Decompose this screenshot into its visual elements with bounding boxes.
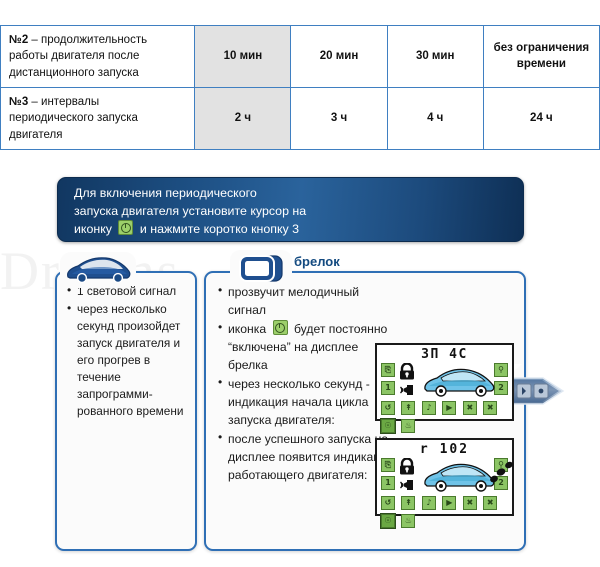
settings-table-wrapper: №2 – продолжительность работы двигателя … bbox=[0, 25, 600, 150]
list-item: через несколько секунд произойдет запуск… bbox=[77, 301, 187, 420]
lcd-car-illustration bbox=[421, 460, 499, 494]
arrow-icon: ▶ bbox=[442, 496, 456, 510]
lcd-start-cycle: 3П 4С ⎘ 1 ⚲ 2 ↺ ↟ ♪ bbox=[375, 343, 514, 421]
thermometer-icon: ♨ bbox=[401, 514, 415, 528]
table-row-number: №2 bbox=[9, 34, 28, 46]
instruction-line-3-before: иконку bbox=[74, 222, 112, 236]
settings-table: №2 – продолжительность работы двигателя … bbox=[0, 25, 600, 150]
instruction-line-2: запуска двигателя установите курсор на bbox=[74, 203, 414, 221]
instruction-line-3: иконку и нажмите коротко кнопку 3 bbox=[74, 220, 414, 239]
table-row: №3 – интервалы периодического запуска дв… bbox=[1, 87, 600, 149]
channel-1-icon: 1 bbox=[381, 381, 395, 395]
table-row-description: продолжительность работы двигателя после… bbox=[9, 34, 147, 79]
fob-card-title: брелок bbox=[294, 254, 340, 269]
fob-bullet2-before: иконка bbox=[228, 322, 266, 336]
fan-icon: ✖ bbox=[463, 401, 477, 415]
lcd-bottom-icon-row: ↺ ↟ ♪ ▶ ✖ ✖ ☉ ♨ bbox=[381, 496, 512, 532]
lcd-readout: 3П 4С bbox=[377, 347, 512, 362]
exhaust-smoke-icon bbox=[489, 460, 515, 486]
table-cell-r1c1: 10 мин bbox=[195, 26, 291, 88]
table-row-description: интервалы периодического запуска двигате… bbox=[9, 96, 138, 141]
table-row-dash: – bbox=[31, 34, 37, 46]
table-row-label: №2 – продолжительность работы двигателя … bbox=[1, 26, 195, 88]
trunk-icon: ⎘ bbox=[381, 458, 395, 472]
loop-icon: ↺ bbox=[381, 496, 395, 510]
lcd-readout: r 102 bbox=[377, 442, 512, 457]
instruction-banner-text: Для включения периодического запуска дви… bbox=[74, 185, 414, 239]
valet-icon: ↟ bbox=[401, 401, 415, 415]
key-fob-icon bbox=[232, 252, 290, 286]
instruction-line-3-after: и нажмите коротко кнопку 3 bbox=[140, 222, 299, 236]
lock-icon bbox=[399, 363, 415, 380]
table-row-number: №3 bbox=[9, 96, 28, 108]
periodic-start-icon: ☉ bbox=[381, 514, 395, 528]
lock-icon bbox=[399, 458, 415, 475]
car-icon bbox=[62, 254, 134, 286]
lcd-car-illustration bbox=[421, 365, 499, 399]
siren-icon bbox=[399, 383, 417, 395]
table-row-dash: – bbox=[31, 96, 37, 108]
arrow-icon: ▶ bbox=[442, 401, 456, 415]
note-icon: ♪ bbox=[422, 401, 436, 415]
car-response-card: 1 световой сигнал через несколько секунд… bbox=[55, 271, 197, 551]
loop-icon: ↺ bbox=[381, 401, 395, 415]
table-cell-r1c3: 30 мин bbox=[387, 26, 483, 88]
snow-icon: ✖ bbox=[483, 496, 497, 510]
snow-icon: ✖ bbox=[483, 401, 497, 415]
periodic-start-green-icon bbox=[118, 220, 133, 235]
channel-1-icon: 1 bbox=[381, 476, 395, 490]
table-cell-r2c2: 3 ч bbox=[291, 87, 387, 149]
instruction-line-1: Для включения периодического bbox=[74, 185, 414, 203]
lcd-bottom-icon-row: ↺ ↟ ♪ ▶ ✖ ✖ ☉ ♨ bbox=[381, 401, 512, 437]
table-cell-r2c1: 2 ч bbox=[195, 87, 291, 149]
table-cell-r1c4: без ограничения времени bbox=[483, 26, 599, 88]
siren-icon bbox=[399, 478, 417, 490]
trunk-icon: ⎘ bbox=[381, 363, 395, 377]
car-response-list: 1 световой сигнал через несколько секунд… bbox=[57, 273, 195, 420]
instruction-banner: Для включения периодического запуска дви… bbox=[57, 177, 524, 242]
note-icon: ♪ bbox=[422, 496, 436, 510]
thermometer-icon: ♨ bbox=[401, 419, 415, 433]
periodic-start-icon: ☉ bbox=[381, 419, 395, 433]
valet-icon: ↟ bbox=[401, 496, 415, 510]
table-row: №2 – продолжительность работы двигателя … bbox=[1, 26, 600, 88]
fan-icon: ✖ bbox=[463, 496, 477, 510]
periodic-start-green-icon bbox=[273, 320, 288, 335]
list-item: прозвучит мелодичный сигнал bbox=[228, 283, 400, 319]
lcd-engine-running: r 102 ⎘ 1 ⚲ 2 bbox=[375, 438, 514, 516]
table-cell-r2c4: 24 ч bbox=[483, 87, 599, 149]
table-cell-r2c3: 4 ч bbox=[387, 87, 483, 149]
table-cell-r1c2: 20 мин bbox=[291, 26, 387, 88]
table-row-label: №3 – интервалы периодического запуска дв… bbox=[1, 87, 195, 149]
